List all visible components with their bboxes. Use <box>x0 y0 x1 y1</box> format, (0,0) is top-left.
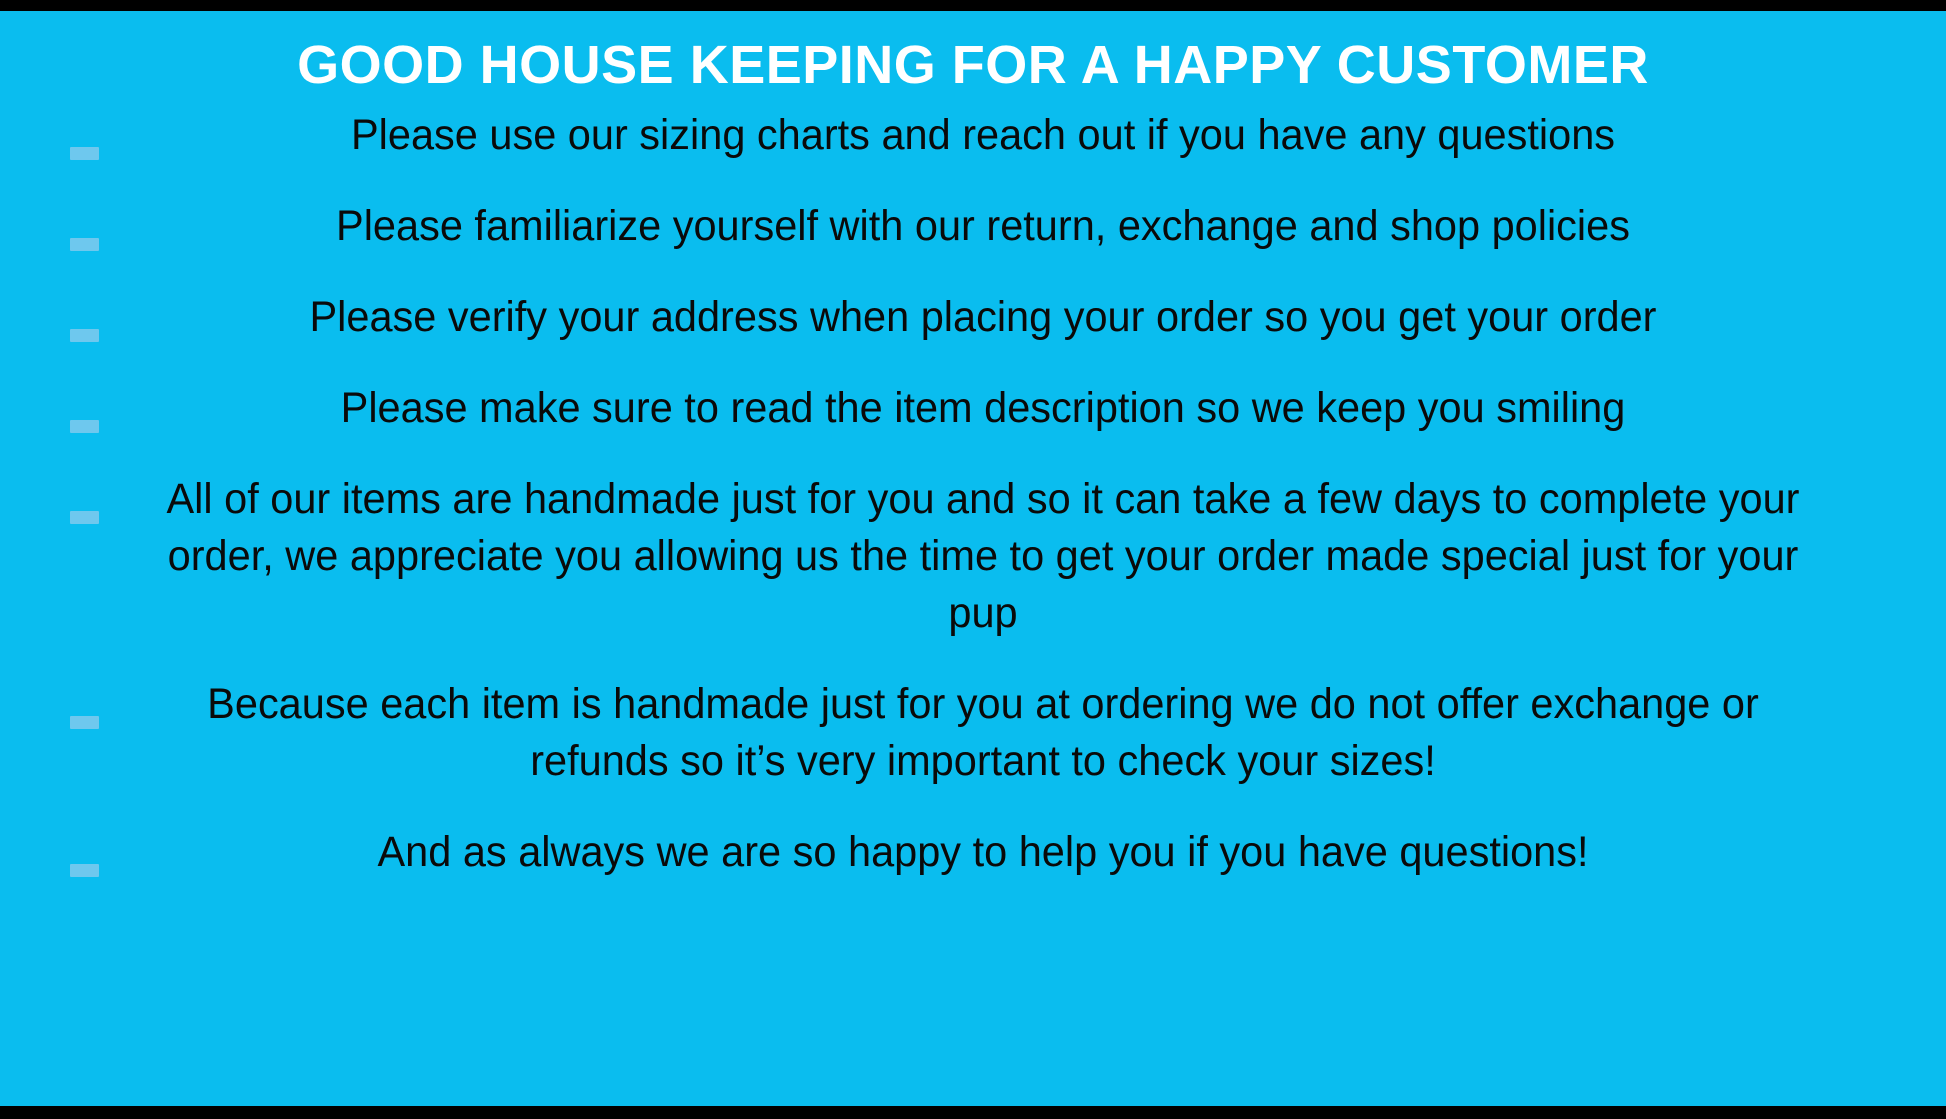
dash-icon <box>70 147 99 160</box>
letterbox-bar-top <box>0 0 1946 11</box>
bullet-list: Please use our sizing charts and reach o… <box>0 107 1946 881</box>
list-item-text: Please familiarize yourself with our ret… <box>160 198 1806 255</box>
list-item: And as always we are so happy to help yo… <box>0 824 1946 881</box>
row-spacer <box>0 790 1946 824</box>
list-item: All of our items are handmade just for y… <box>0 471 1946 642</box>
dash-icon <box>70 511 99 524</box>
slide-root: GOOD HOUSE KEEPING FOR A HAPPY CUSTOMER … <box>0 0 1946 1119</box>
row-spacer <box>0 346 1946 380</box>
list-item-text: And as always we are so happy to help yo… <box>160 824 1806 881</box>
row-spacer <box>0 437 1946 471</box>
dash-icon <box>70 238 99 251</box>
dash-icon <box>70 864 99 877</box>
row-spacer <box>0 642 1946 676</box>
list-item-text: Because each item is handmade just for y… <box>160 676 1806 790</box>
row-spacer <box>0 164 1946 198</box>
dash-icon <box>70 716 99 729</box>
letterbox-bar-bottom <box>0 1106 1946 1119</box>
list-item: Please make sure to read the item descri… <box>0 380 1946 437</box>
list-item: Please familiarize yourself with our ret… <box>0 198 1946 255</box>
list-item: Because each item is handmade just for y… <box>0 676 1946 790</box>
list-item: Please verify your address when placing … <box>0 289 1946 346</box>
list-item: Please use our sizing charts and reach o… <box>0 107 1946 164</box>
list-item-text: Please make sure to read the item descri… <box>160 380 1806 437</box>
list-item-text: Please use our sizing charts and reach o… <box>160 107 1806 164</box>
page-title: GOOD HOUSE KEEPING FOR A HAPPY CUSTOMER <box>0 33 1946 97</box>
dash-icon <box>70 329 99 342</box>
list-item-text: Please verify your address when placing … <box>160 289 1806 346</box>
list-item-text: All of our items are handmade just for y… <box>160 471 1806 642</box>
row-spacer <box>0 255 1946 289</box>
dash-icon <box>70 420 99 433</box>
slide-canvas: GOOD HOUSE KEEPING FOR A HAPPY CUSTOMER … <box>0 11 1946 1106</box>
